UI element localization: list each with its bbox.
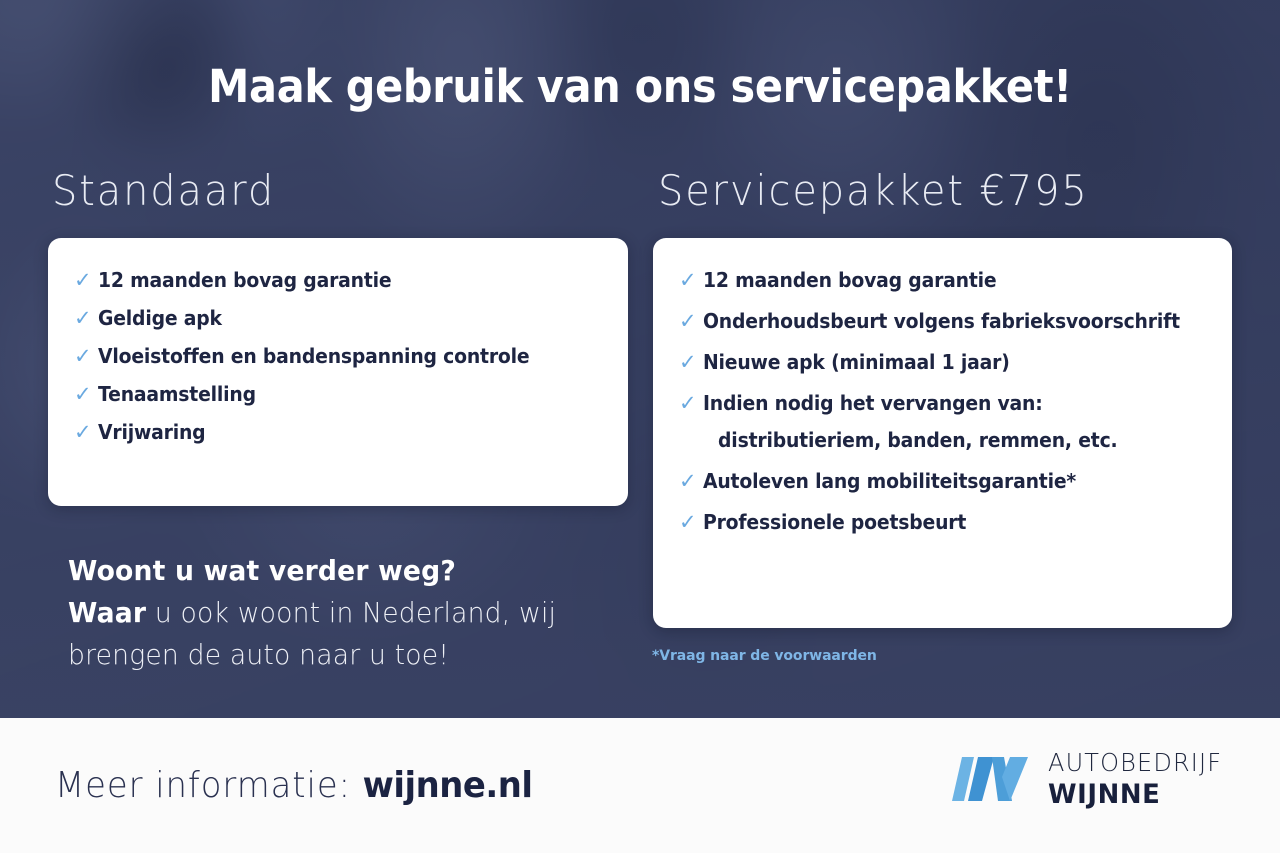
right-column-heading: Servicepakket €795 <box>658 170 1089 212</box>
list-item-label: Onderhoudsbeurt volgens fabrieksvoorschr… <box>703 309 1180 334</box>
logo-wordmark: AUTOBEDRIJF WIJNNE <box>1048 750 1229 808</box>
service-package-card: ✓ 12 maanden bovag garantie ✓ Onderhouds… <box>653 238 1232 628</box>
more-information-label: Meer informatie: <box>55 765 363 806</box>
list-item: ✓ Tenaamstelling <box>74 382 602 407</box>
website-link[interactable]: wijnne.nl <box>363 765 533 806</box>
list-item-label: Tenaamstelling <box>98 382 256 407</box>
check-icon: ✓ <box>679 268 703 293</box>
check-icon: ✓ <box>679 391 703 416</box>
list-item: ✓ Geldige apk <box>74 306 602 331</box>
check-icon: ✓ <box>679 469 703 494</box>
list-item: ✓ Onderhoudsbeurt volgens fabrieksvoorsc… <box>679 309 1206 334</box>
list-item-label: Professionele poetsbeurt <box>703 510 966 535</box>
list-item-label: Geldige apk <box>98 306 222 331</box>
check-icon: ✓ <box>74 382 98 407</box>
list-item: ✓ Professionele poetsbeurt <box>679 510 1206 535</box>
page-title: Maak gebruik van ons servicepakket! <box>51 64 1229 109</box>
list-item-label: Vloeistoffen en bandenspanning controle <box>98 344 529 369</box>
list-item: ✓ Vloeistoffen en bandenspanning control… <box>74 344 602 369</box>
list-item-label-group: Indien nodig het vervangen van: distribu… <box>703 391 1118 453</box>
check-icon: ✓ <box>74 344 98 369</box>
check-icon: ✓ <box>74 268 98 293</box>
list-item: ✓ Nieuwe apk (minimaal 1 jaar) <box>679 350 1206 375</box>
promo-line3: brengen de auto naar u toe! <box>68 638 449 671</box>
left-column-heading: Standaard <box>52 170 275 212</box>
list-item: ✓ 12 maanden bovag garantie <box>679 268 1206 293</box>
promo-line2-rest: u ook woont in Nederland, wij <box>146 596 556 629</box>
list-item-label: Nieuwe apk (minimaal 1 jaar) <box>703 350 1010 375</box>
list-item-label-continuation: distributieriem, banden, remmen, etc. <box>718 428 1117 453</box>
logo-top-word: AUTOBEDRIJF <box>1048 750 1222 775</box>
delivery-promo-text: Woont u wat verder weg? Waar u ook woont… <box>68 550 600 676</box>
promo-emphasis: Waar <box>68 596 146 629</box>
list-item-label: 12 maanden bovag garantie <box>98 268 391 293</box>
conditions-footnote: *Vraag naar de voorwaarden <box>652 648 877 664</box>
list-item: ✓ Vrijwaring <box>74 420 602 445</box>
check-icon: ✓ <box>679 309 703 334</box>
standard-package-card: ✓ 12 maanden bovag garantie ✓ Geldige ap… <box>48 238 628 506</box>
list-item-label: Indien nodig het vervangen van: <box>703 391 1043 415</box>
check-icon: ✓ <box>679 350 703 375</box>
company-logo[interactable]: AUTOBEDRIJF WIJNNE <box>952 750 1229 808</box>
list-item-label: 12 maanden bovag garantie <box>703 268 996 293</box>
list-item: ✓ Autoleven lang mobiliteitsgarantie* <box>679 469 1206 494</box>
more-information-line: Meer informatie: wijnne.nl <box>55 766 533 806</box>
check-icon: ✓ <box>74 420 98 445</box>
logo-bottom-word: WIJNNE <box>1048 781 1222 808</box>
service-package-banner: Maak gebruik van ons servicepakket! Stan… <box>0 0 1280 853</box>
list-item-label: Vrijwaring <box>98 420 205 445</box>
check-icon: ✓ <box>679 510 703 535</box>
promo-question: Woont u wat verder weg? <box>68 550 600 592</box>
wijnne-w-mark-icon <box>952 751 1030 807</box>
list-item: ✓ Indien nodig het vervangen van: distri… <box>679 391 1206 453</box>
list-item-label: Autoleven lang mobiliteitsgarantie* <box>703 469 1076 494</box>
check-icon: ✓ <box>74 306 98 331</box>
list-item: ✓ 12 maanden bovag garantie <box>74 268 602 293</box>
